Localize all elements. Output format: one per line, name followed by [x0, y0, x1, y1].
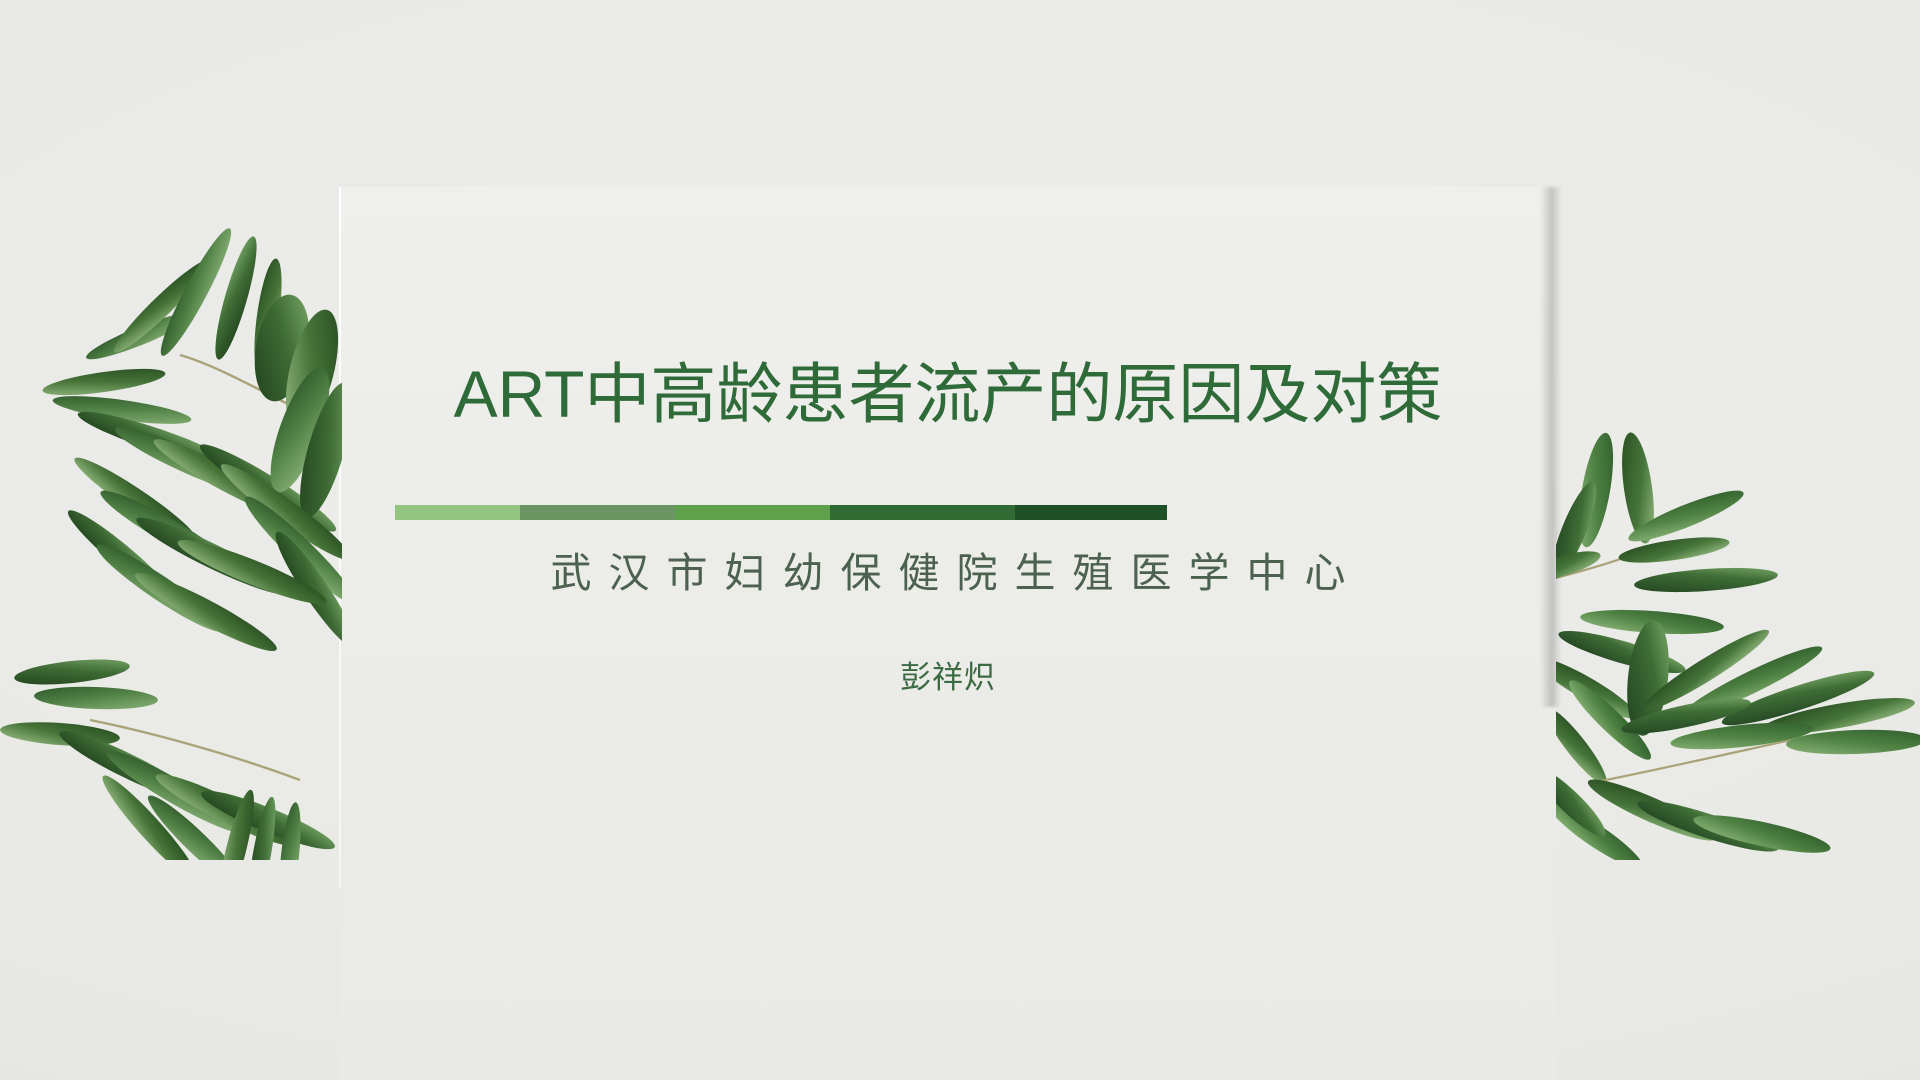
- page-title: ART中高龄患者流产的原因及对策: [340, 358, 1556, 431]
- olive-leaf-branch-right-icon: [1556, 390, 1920, 860]
- divider-segment-3: [675, 505, 830, 520]
- divider-segment-1: [395, 505, 520, 520]
- presenter-name: 彭祥炽: [340, 655, 1556, 702]
- gradient-divider-bar: [395, 505, 1167, 520]
- olive-leaf-branch-left-icon: [0, 120, 342, 860]
- divider-segment-2: [520, 505, 675, 520]
- divider-segment-5: [1015, 505, 1167, 520]
- content-panel: [340, 187, 1556, 1080]
- organization-subtitle: 武汉市妇幼保健院生殖医学中心: [340, 543, 1556, 605]
- presentation-slide: ART中高龄患者流产的原因及对策 武汉市妇幼保健院生殖医学中心 彭祥炽: [0, 0, 1920, 1080]
- divider-segment-4: [830, 505, 1015, 520]
